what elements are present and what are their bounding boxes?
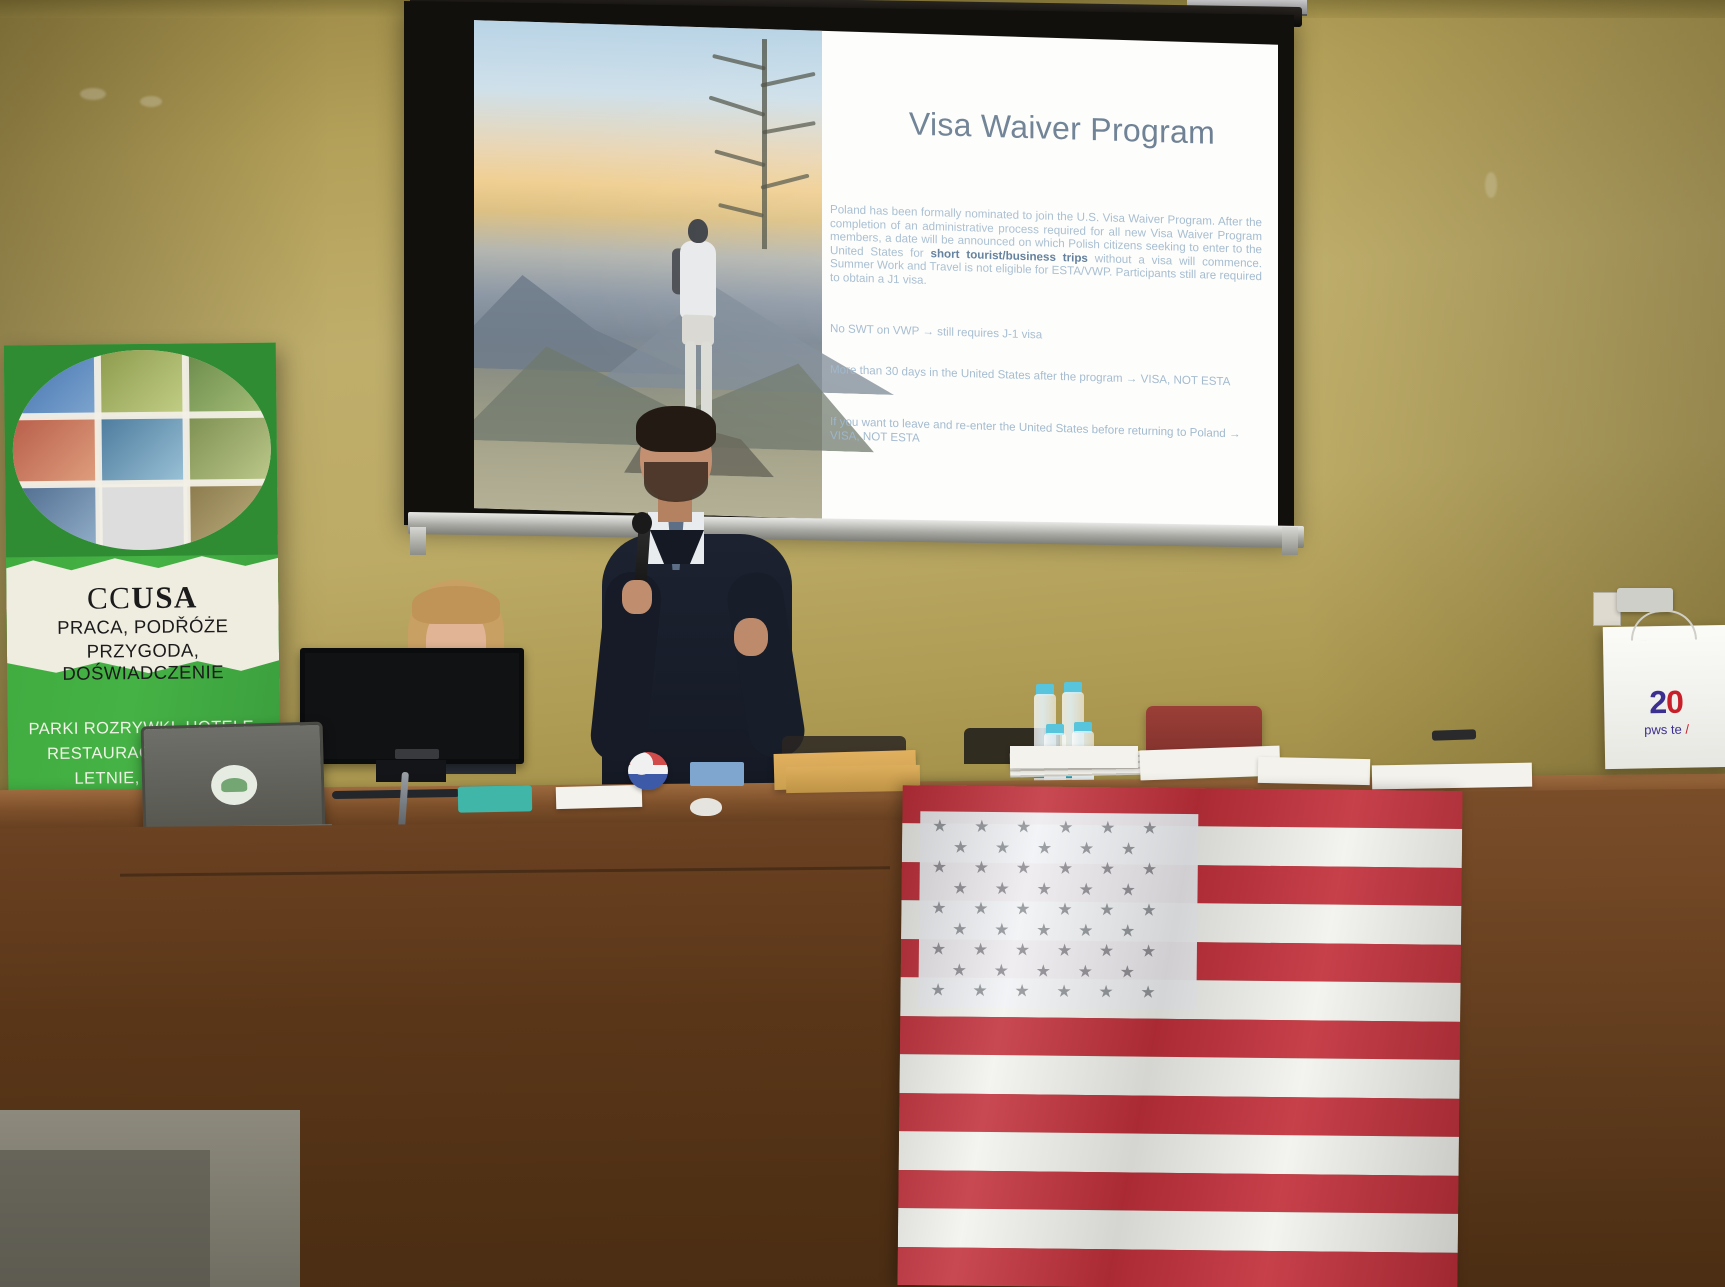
banner-brand: CCUSA: [6, 579, 278, 618]
flag-star: ★: [1036, 921, 1051, 938]
ceiling-mark: [140, 96, 162, 107]
flag-union: ★★★★★★★★★★★★★★★★★★★★★★★★★★★★★★★★★★★★★★★★…: [918, 811, 1198, 1010]
desktop-monitor: [300, 648, 524, 764]
flag-star: ★: [1141, 902, 1156, 919]
paper-stack: [1010, 746, 1138, 768]
us-flag: ★★★★★★★★★★★★★★★★★★★★★★★★★★★★★★★★★★★★★★★★…: [897, 785, 1462, 1287]
slide-title: Visa Waiver Program: [862, 104, 1262, 153]
desk-right-section: [1440, 789, 1725, 1287]
presenter-hand-right: [734, 618, 768, 656]
flag-star: ★: [952, 879, 967, 896]
flag-star: ★: [1036, 880, 1051, 897]
projection-screen: Visa Waiver Program Poland has been form…: [404, 1, 1294, 539]
banner-photo-collage: [4, 343, 278, 558]
bag-subtitle-left: pws: [1644, 722, 1667, 737]
flag-stripe: [897, 1247, 1457, 1287]
flag-star: ★: [1014, 982, 1029, 999]
flag-star: ★: [1058, 819, 1073, 836]
computer-mouse[interactable]: [690, 798, 722, 816]
flag-star: ★: [931, 940, 946, 957]
teal-case: [458, 785, 532, 812]
flag-star: ★: [973, 900, 988, 917]
banner-tagline-2: PRZYGODA, DOŚWIADCZENIE: [7, 639, 279, 686]
bag-subtitle-right: te: [1671, 722, 1682, 737]
flag-star: ★: [974, 859, 989, 876]
flag-star: ★: [932, 858, 947, 875]
flag-stripe: [898, 1208, 1458, 1252]
slide-text-column: Visa Waiver Program Poland has been form…: [822, 31, 1278, 533]
monitor-stand: [376, 760, 446, 782]
flag-star: ★: [973, 941, 988, 958]
globe-graphic: [12, 349, 272, 552]
banner-brand-usa: USA: [131, 579, 198, 615]
flag-star: ★: [995, 839, 1010, 856]
flag-stripe: [899, 1093, 1459, 1137]
screen-bracket-left: [410, 527, 426, 555]
flag-star: ★: [1058, 860, 1073, 877]
bag-logo-digit-2: 2: [1649, 684, 1666, 720]
flag-star: ★: [953, 838, 968, 855]
flag-star: ★: [1141, 943, 1156, 960]
flag-star: ★: [1015, 941, 1030, 958]
flag-star: ★: [1016, 818, 1031, 835]
flag-star: ★: [1142, 861, 1157, 878]
flag-star: ★: [1100, 819, 1115, 836]
flag-stripe: [898, 1170, 1458, 1214]
flag-star: ★: [931, 899, 946, 916]
flag-stripe: [899, 1054, 1459, 1098]
pws-shopping-bag: 20 pws te /: [1603, 625, 1725, 769]
remote-control[interactable]: [1432, 729, 1476, 741]
flag-stripe: [900, 1016, 1460, 1060]
slide-paragraph-4: If you want to leave and re-enter the Un…: [830, 415, 1262, 455]
paper-sheet: [1372, 763, 1532, 790]
flag-star: ★: [1015, 900, 1030, 917]
flag-star: ★: [1057, 901, 1072, 918]
flag-star: ★: [1120, 922, 1135, 939]
screen-bracket-right: [1282, 527, 1298, 555]
bag-subtitle-slash: /: [1685, 722, 1689, 737]
presenter: [596, 404, 806, 804]
wall-mark: [1485, 172, 1497, 198]
manila-envelope: [786, 765, 920, 793]
flag-star: ★: [1099, 942, 1114, 959]
lecture-hall-photo: Visa Waiver Program Poland has been form…: [0, 0, 1725, 1287]
flag-star: ★: [1142, 820, 1157, 837]
bag-subtitle: pws te /: [1604, 721, 1725, 738]
flag-star: ★: [1100, 860, 1115, 877]
flag-star: ★: [1121, 840, 1136, 857]
flag-star: ★: [1078, 921, 1093, 938]
banner-brand-cc: CC: [87, 580, 132, 615]
patriotic-ball: [628, 752, 668, 790]
flag-star: ★: [994, 921, 1009, 938]
slide-paragraph-1: Poland has been formally nominated to jo…: [830, 203, 1262, 298]
flag-star: ★: [1078, 962, 1093, 979]
paper-sheet: [556, 785, 643, 809]
flag-stripe: [899, 1131, 1459, 1175]
microphone-head: [632, 512, 652, 534]
projected-slide: Visa Waiver Program Poland has been form…: [474, 20, 1278, 533]
flag-star: ★: [1016, 859, 1031, 876]
flag-star: ★: [974, 818, 989, 835]
bag-logo: 20: [1604, 683, 1725, 722]
flag-star: ★: [1098, 983, 1113, 1000]
flag-star: ★: [994, 962, 1009, 979]
flag-star: ★: [930, 981, 945, 998]
laptop: [141, 722, 326, 837]
paper-sheet: [1258, 757, 1371, 785]
flag-star: ★: [932, 817, 947, 834]
flag-star: ★: [952, 961, 967, 978]
flag-star: ★: [1036, 962, 1051, 979]
laptop-sticker: [211, 764, 258, 805]
flag-star: ★: [952, 920, 967, 937]
flag-star: ★: [1078, 880, 1093, 897]
flag-star: ★: [1037, 839, 1052, 856]
hiker-figure: [670, 218, 726, 432]
presenter-hand-left: [622, 580, 652, 614]
slide-paragraph-2: No SWT on VWP → still requires J-1 visa: [830, 322, 1262, 349]
flag-star: ★: [1120, 881, 1135, 898]
flag-star: ★: [1057, 942, 1072, 959]
flag-star: ★: [1099, 901, 1114, 918]
flag-star: ★: [972, 982, 987, 999]
flag-star: ★: [994, 880, 1009, 897]
flag-star: ★: [1120, 963, 1135, 980]
slide-paragraph-3: More than 30 days in the United States a…: [830, 363, 1262, 390]
banner-tagline-1: PRACA, PODŘÓŻE: [7, 615, 279, 640]
flag-star: ★: [1140, 984, 1155, 1001]
floor-shadow: [0, 1150, 210, 1287]
bag-logo-digit-0: 0: [1666, 684, 1683, 720]
projection-screen-assembly: Visa Waiver Program Poland has been form…: [404, 0, 1304, 552]
ceiling-mark: [80, 88, 106, 100]
flag-star: ★: [1056, 983, 1071, 1000]
blue-box: [690, 762, 744, 786]
wall-device: [1617, 588, 1673, 612]
flag-star: ★: [1079, 839, 1094, 856]
